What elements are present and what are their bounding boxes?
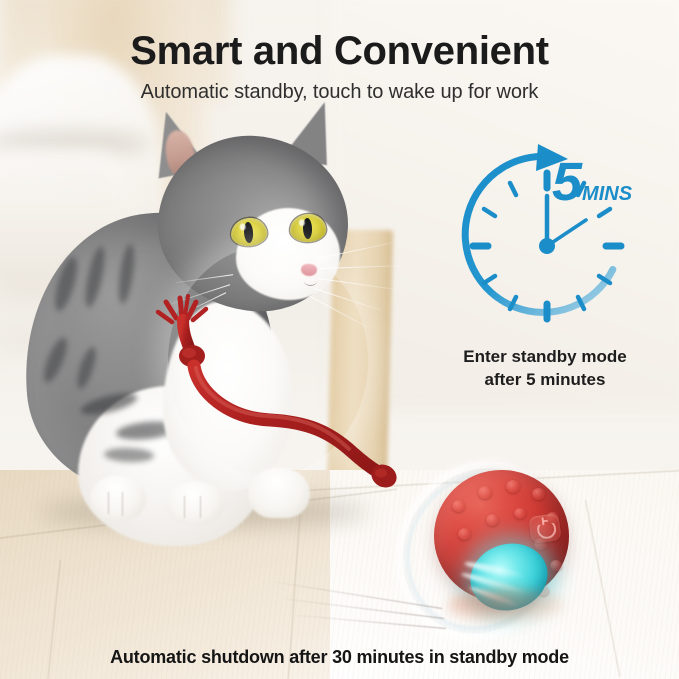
clock-minutes-number: 5 <box>552 158 581 206</box>
ball-bump <box>486 514 499 526</box>
ball-bump <box>550 560 562 571</box>
page-title: Smart and Convenient <box>0 26 679 76</box>
ball-floor-reflection <box>447 587 567 625</box>
cat-paw-toe <box>122 492 123 516</box>
ball-bump <box>514 508 526 519</box>
cat-paw-toe <box>200 496 201 518</box>
clock-timer-icon: 5 MINS <box>442 140 657 335</box>
cat-paw-rear <box>248 468 310 518</box>
clock-caption-line2: after 5 minutes <box>415 368 675 391</box>
power-glyph <box>536 519 557 540</box>
clock-caption: Enter standby mode after 5 minutes <box>415 345 675 391</box>
cat-paw-toe <box>108 492 109 514</box>
cat-whisker <box>310 296 369 328</box>
power-button-icon[interactable] <box>528 513 561 544</box>
product-feature-image: 5 MINS Smart and Convenient Automatic st… <box>0 0 679 679</box>
ball-bump <box>458 528 471 540</box>
cat-paw-toe <box>184 496 185 518</box>
ball-bump <box>532 488 545 500</box>
cat-whisker <box>314 288 383 311</box>
clock-center-dot <box>539 238 555 254</box>
cat-eye-right <box>290 213 327 242</box>
cat-paw-front-right <box>166 482 224 524</box>
toy-ball-body <box>434 470 569 602</box>
ball-bump <box>506 480 520 493</box>
ball-bump <box>452 500 465 512</box>
toy-ball[interactable] <box>392 452 592 637</box>
ball-bump <box>478 486 492 499</box>
clock-minutes-label: 5 MINS <box>552 158 632 206</box>
page-subtitle: Automatic standby, touch to wake up for … <box>0 78 679 106</box>
cat <box>18 96 378 526</box>
cat-paw-front-left <box>90 476 146 520</box>
cat-chest-white <box>163 301 293 491</box>
footer-caption: Automatic shutdown after 30 minutes in s… <box>0 645 679 669</box>
clock-caption-line1: Enter standby mode <box>415 345 675 368</box>
clock-minutes-unit: MINS <box>582 183 632 206</box>
cat-mouth <box>304 276 317 286</box>
